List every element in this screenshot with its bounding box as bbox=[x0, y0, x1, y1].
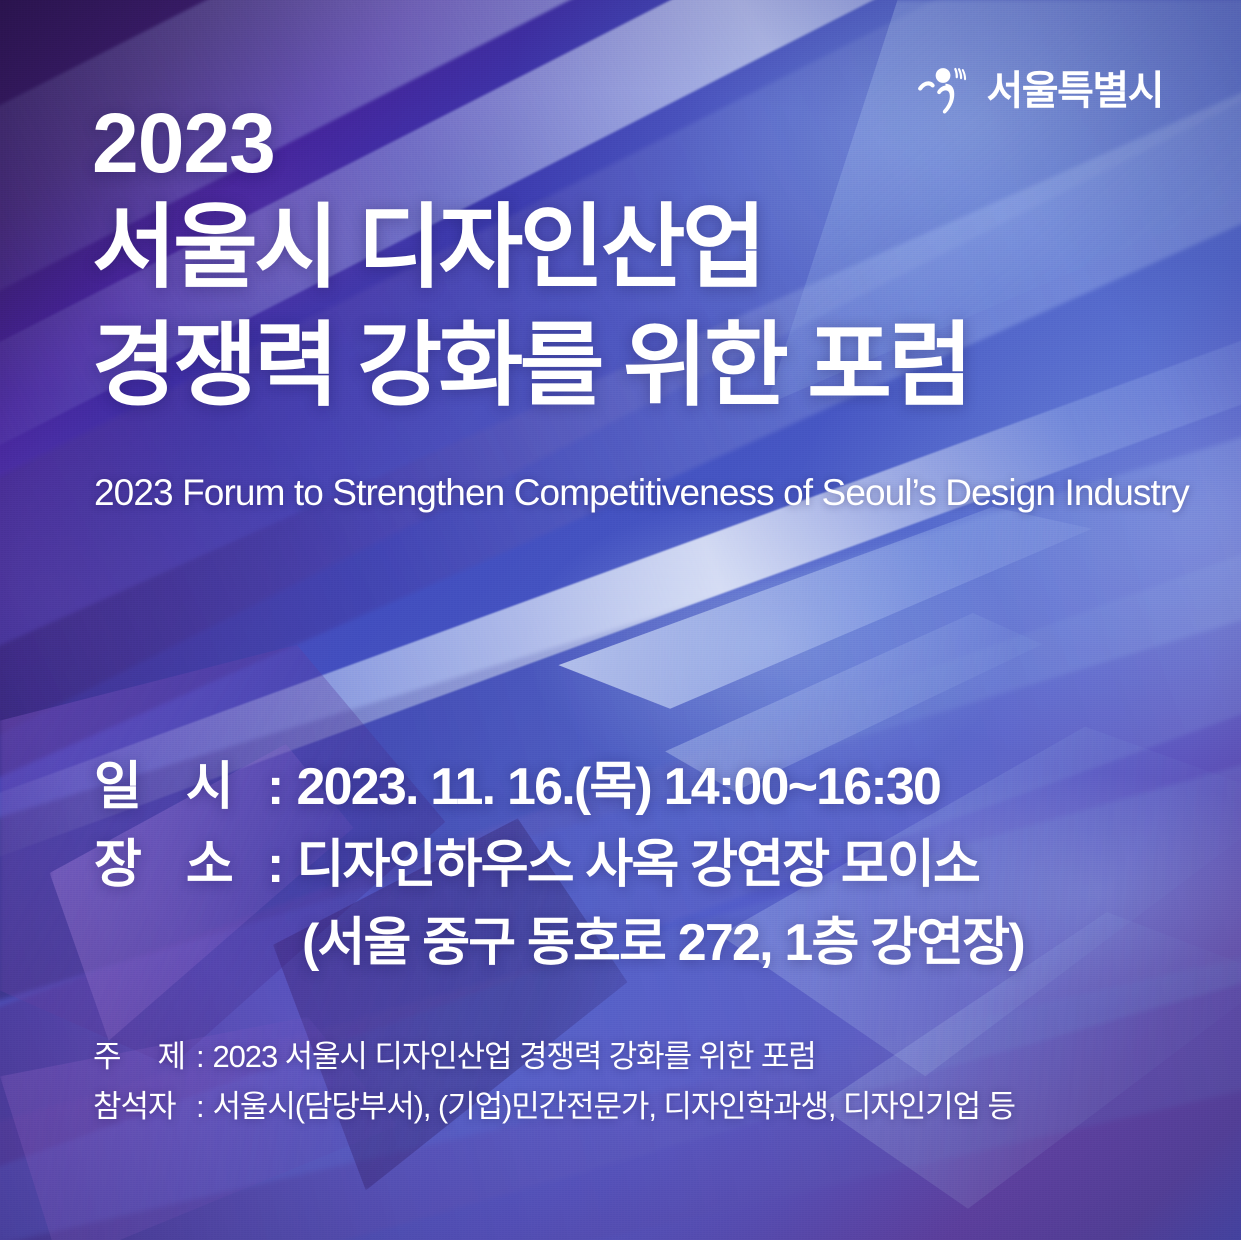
footer-label-attendees: 참석자 bbox=[92, 1082, 196, 1132]
detail-row-venue: 장소 : 디자인하우스 사옥 강연장 모이소 bbox=[92, 826, 1192, 904]
event-footer: 주제 : 2023 서울시 디자인산업 경쟁력 강화를 위한 포럼 참석자 : … bbox=[92, 1032, 1202, 1132]
footer-row-attendees: 참석자 : 서울시(담당부서), (기업)민간전문가, 디자인학과생, 디자인기… bbox=[92, 1082, 1202, 1132]
title-line-2: 경쟁력 강화를 위한 포럼 bbox=[92, 308, 1182, 426]
detail-row-date: 일시 : 2023. 11. 16.(목) 14:00~16:30 bbox=[92, 748, 1192, 826]
detail-venue-address: (서울 중구 동호로 272, 1층 강연장) bbox=[92, 904, 1192, 982]
event-poster: 서울특별시 2023 서울시 디자인산업 경쟁력 강화를 위한 포럼 2023 … bbox=[0, 0, 1241, 1240]
detail-separator-date: : bbox=[267, 748, 297, 826]
detail-separator-venue: : bbox=[267, 826, 297, 904]
footer-row-subject: 주제 : 2023 서울시 디자인산업 경쟁력 강화를 위한 포럼 bbox=[92, 1032, 1202, 1082]
detail-value-venue: 디자인하우스 사옥 강연장 모이소 bbox=[297, 826, 980, 904]
detail-label-date: 일시 bbox=[92, 748, 267, 826]
footer-value-attendees: 서울시(담당부서), (기업)민간전문가, 디자인학과생, 디자인기업 등 bbox=[213, 1082, 1015, 1132]
poster-content: 서울특별시 2023 서울시 디자인산업 경쟁력 강화를 위한 포럼 2023 … bbox=[0, 0, 1241, 1240]
footer-separator-attendees: : bbox=[196, 1082, 213, 1132]
detail-label-venue: 장소 bbox=[92, 826, 267, 904]
poster-title: 2023 서울시 디자인산업 경쟁력 강화를 위한 포럼 bbox=[92, 96, 1182, 426]
title-year: 2023 bbox=[92, 96, 1182, 190]
event-details: 일시 : 2023. 11. 16.(목) 14:00~16:30 장소 : 디… bbox=[92, 748, 1192, 982]
detail-value-date: 2023. 11. 16.(목) 14:00~16:30 bbox=[297, 748, 941, 826]
footer-label-subject: 주제 bbox=[92, 1032, 196, 1082]
poster-subtitle-english: 2023 Forum to Strengthen Competitiveness… bbox=[94, 470, 1189, 516]
title-line-1: 서울시 디자인산업 bbox=[92, 190, 1182, 308]
footer-value-subject: 2023 서울시 디자인산업 경쟁력 강화를 위한 포럼 bbox=[213, 1032, 816, 1082]
footer-separator-subject: : bbox=[196, 1032, 213, 1082]
